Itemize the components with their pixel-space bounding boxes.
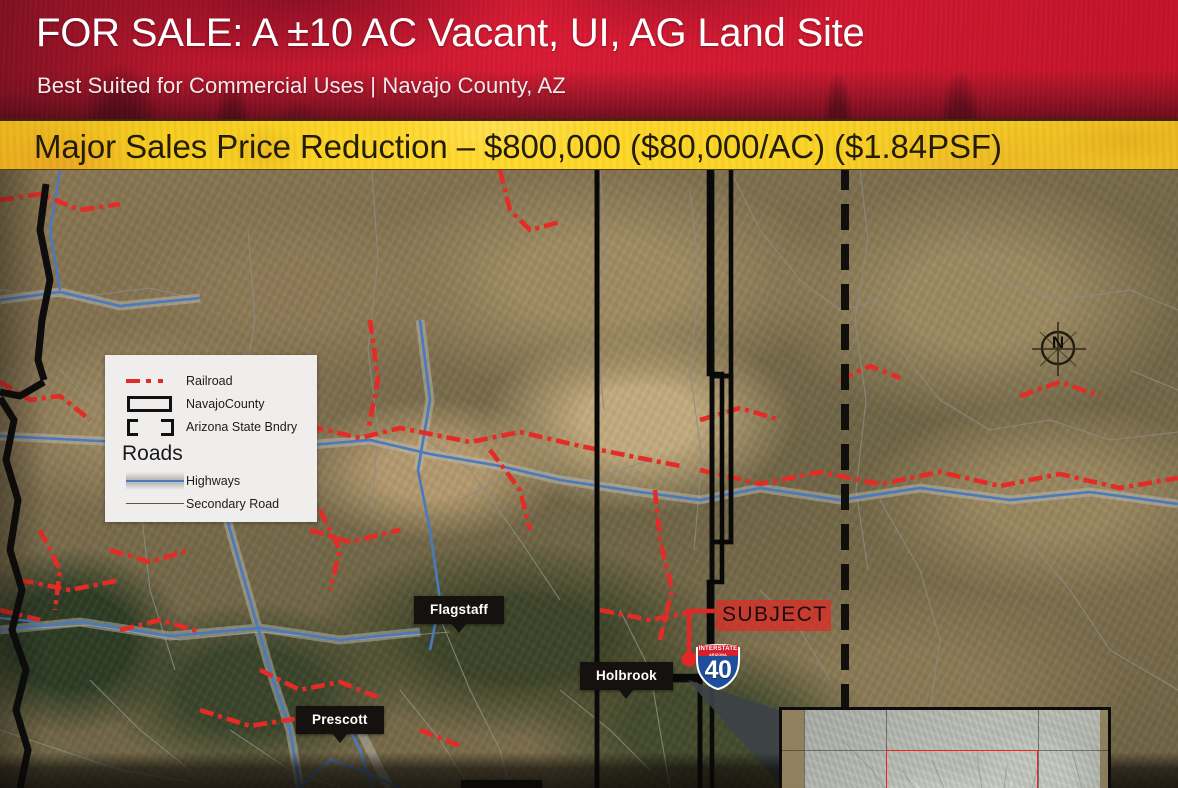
header-banner: FOR SALE: A ±10 AC Vacant, UI, AG Land S…	[0, 0, 1178, 119]
legend-item-highways: Highways	[105, 469, 317, 492]
compass-north-label: N	[1029, 333, 1087, 353]
legend-label: Arizona State Bndry	[186, 420, 297, 434]
regional-map[interactable]: N Flagstaff Holbrook Prescott Payson Pho…	[0, 170, 1178, 788]
label-pointer-tail	[332, 733, 348, 743]
city-label-flagstaff[interactable]: Flagstaff	[414, 596, 504, 624]
interstate-40-shield-icon[interactable]: INTERSTATE ARIZONA 40	[694, 644, 742, 690]
dash-dot-line-icon	[122, 370, 186, 392]
rectangle-outline-icon	[122, 393, 186, 415]
flyer-page: FOR SALE: A ±10 AC Vacant, UI, AG Land S…	[0, 0, 1178, 788]
price-reduction-text: Major Sales Price Reduction – $800,000 (…	[34, 126, 1002, 168]
shield-route-number: 40	[694, 657, 742, 683]
price-reduction-banner: Major Sales Price Reduction – $800,000 (…	[0, 119, 1178, 170]
arizona-state-boundary-solid	[0, 184, 50, 788]
city-label-prescott[interactable]: Prescott	[296, 706, 384, 734]
legend-label: Secondary Road	[186, 497, 279, 511]
blue-line-icon	[122, 470, 186, 492]
city-label-payson[interactable]: Payson	[461, 780, 542, 788]
legend-item-railroad: Railroad	[105, 369, 317, 392]
legend-label: NavajoCounty	[186, 397, 265, 411]
city-label-text: Prescott	[312, 712, 368, 727]
thin-gray-line-icon	[122, 493, 186, 515]
label-pointer-tail	[618, 689, 634, 699]
legend-item-secondary-road: Secondary Road	[105, 492, 317, 515]
city-label-holbrook[interactable]: Holbrook	[580, 662, 673, 690]
legend-label: Highways	[186, 474, 240, 488]
dashed-rectangle-icon	[122, 416, 186, 438]
legend-item-arizona-state-bndry: Arizona State Bndry	[105, 415, 317, 438]
legend-label: Railroad	[186, 374, 233, 388]
legend-roads-heading: Roads	[105, 441, 317, 467]
parcel-boundary-box	[886, 750, 1038, 788]
parcel-inset-map[interactable]: 104-18-008	[779, 707, 1111, 788]
subject-callout-label[interactable]: SUBJECT	[716, 600, 831, 631]
subject-label-text: SUBJECT	[722, 603, 827, 626]
map-legend: Railroad NavajoCounty	[105, 355, 317, 522]
shield-interstate-text: INTERSTATE	[699, 646, 738, 652]
shield-top-banner: INTERSTATE ARIZONA	[698, 645, 738, 656]
page-subtitle: Best Suited for Commercial Uses | Navajo…	[37, 73, 566, 99]
city-label-text: Holbrook	[596, 668, 657, 683]
label-pointer-tail	[451, 623, 467, 633]
legend-item-navajo-county: NavajoCounty	[105, 392, 317, 415]
compass-rose-icon: N	[1029, 318, 1087, 380]
city-label-text: Flagstaff	[430, 602, 488, 617]
page-title: FOR SALE: A ±10 AC Vacant, UI, AG Land S…	[36, 13, 865, 55]
